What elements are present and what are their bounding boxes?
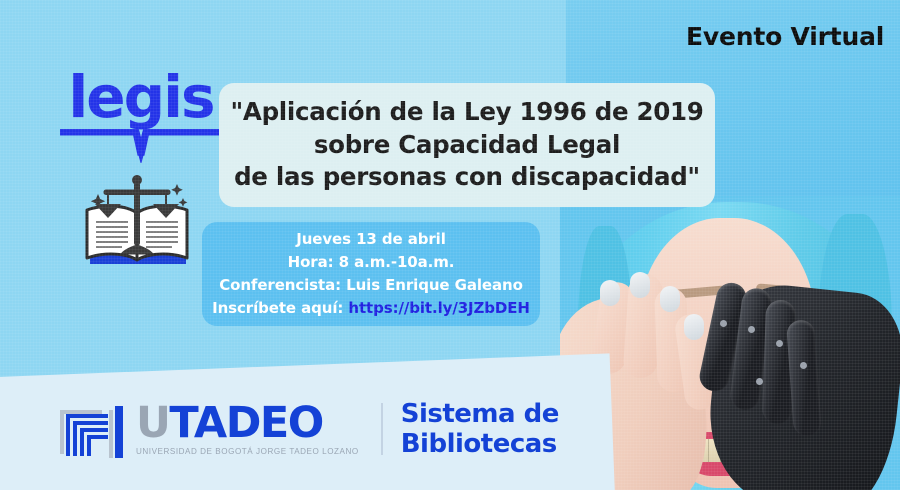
scales-of-justice-on-book-icon xyxy=(82,168,194,270)
bionic-joint-5 xyxy=(756,378,763,385)
fingernail-1 xyxy=(600,280,620,306)
event-title: "Aplicación de la Ley 1996 de 2019 sobre… xyxy=(222,96,711,194)
fingernail-3 xyxy=(660,286,680,312)
fingernail-4 xyxy=(684,314,704,340)
fingernail-2 xyxy=(630,272,650,298)
library-system-line-1: Sistema de xyxy=(401,399,559,429)
event-speaker: Conferencista: Luis Enrique Galeano xyxy=(212,274,530,297)
event-type-label: Evento Virtual xyxy=(686,22,884,51)
utadeo-book-mark-icon xyxy=(58,396,132,462)
bionic-joint-1 xyxy=(720,320,727,327)
event-title-line-2: sobre Capacidad Legal xyxy=(230,129,703,162)
bionic-joint-2 xyxy=(748,326,755,333)
library-system-label: Sistema de Bibliotecas xyxy=(401,399,559,459)
event-time: Hora: 8 a.m.-10a.m. xyxy=(212,251,530,274)
registration-link[interactable]: https://bit.ly/3JZbDEH xyxy=(348,299,529,317)
utadeo-letter-u: U xyxy=(136,398,169,448)
event-title-line-3: de las personas con discapacidad" xyxy=(230,161,703,194)
event-details-card: Jueves 13 de abril Hora: 8 a.m.-10a.m. C… xyxy=(202,222,540,326)
event-title-card: "Aplicación de la Ley 1996 de 2019 sobre… xyxy=(219,83,715,207)
library-system-line-2: Bibliotecas xyxy=(401,429,559,459)
event-date: Jueves 13 de abril xyxy=(212,228,530,251)
legis-wordmark: legis xyxy=(58,68,224,126)
registration-label: Inscríbete aquí: xyxy=(212,299,343,317)
utadeo-letters-tadeo: TADEO xyxy=(169,398,322,448)
event-title-line-1: "Aplicación de la Ley 1996 de 2019 xyxy=(230,96,703,129)
bionic-joint-3 xyxy=(776,340,783,347)
legis-open-book-icon xyxy=(58,129,224,163)
legis-logo: legis xyxy=(58,68,224,163)
event-details: Jueves 13 de abril Hora: 8 a.m.-10a.m. C… xyxy=(212,228,530,319)
utadeo-wordmark: UTADEO UNIVERSIDAD DE BOGOTÁ JORGE TADEO… xyxy=(136,402,359,456)
registration-row: Inscríbete aquí: https://bit.ly/3JZbDEH xyxy=(212,297,530,320)
event-poster: Evento Virtual legis xyxy=(0,0,900,490)
utadeo-tagline: UNIVERSIDAD DE BOGOTÁ JORGE TADEO LOZANO xyxy=(136,447,359,456)
utadeo-name: UTADEO xyxy=(136,402,359,445)
utadeo-logo: UTADEO UNIVERSIDAD DE BOGOTÁ JORGE TADEO… xyxy=(58,392,559,466)
footer-divider xyxy=(381,403,383,455)
bionic-joint-4 xyxy=(800,362,807,369)
